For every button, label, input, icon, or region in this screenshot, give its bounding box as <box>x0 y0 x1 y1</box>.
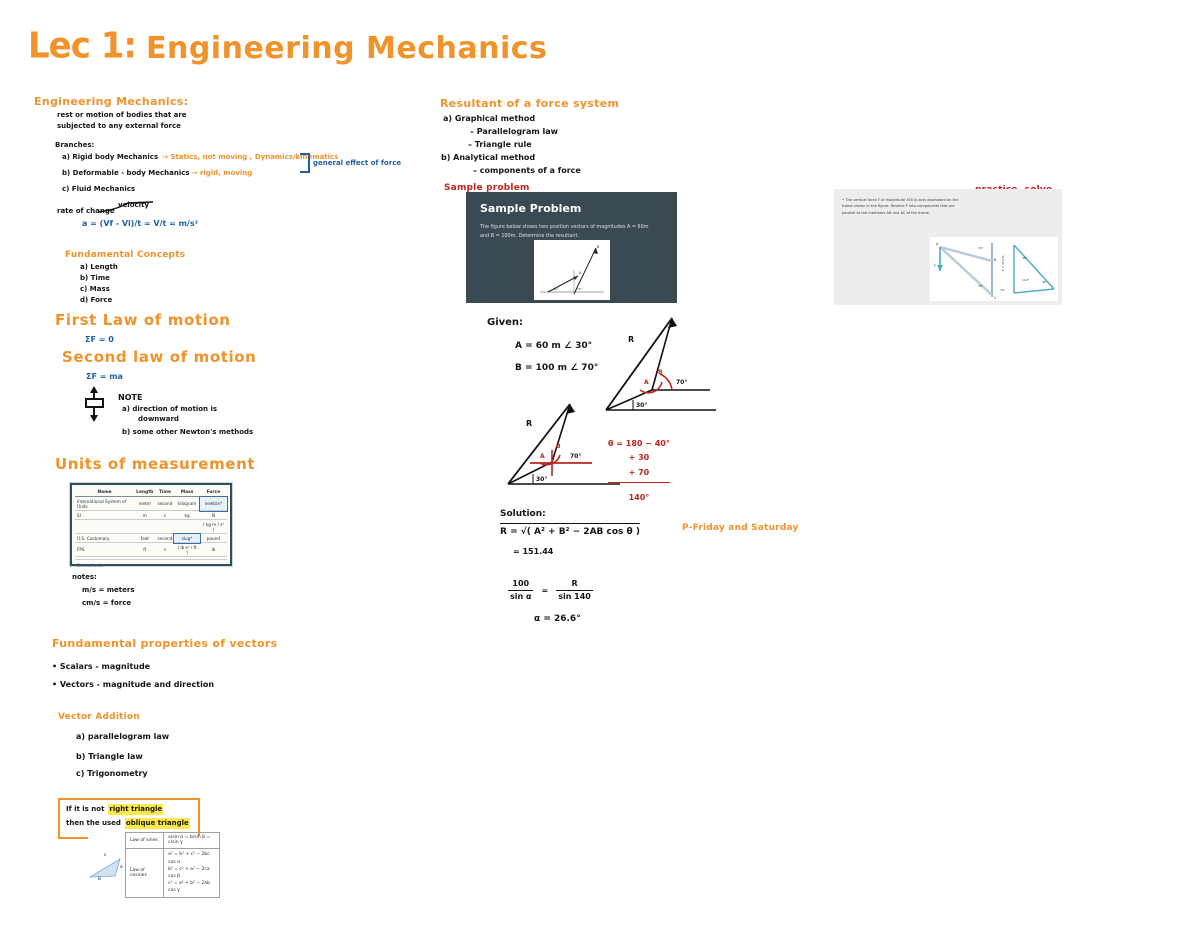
svg-text:b: b <box>98 876 101 881</box>
given-heading: Given: <box>487 315 523 331</box>
units-table-row: International System of Units meter seco… <box>75 497 227 511</box>
sine-law-left: 100 sin α <box>508 578 533 604</box>
units-col-name: Name <box>75 488 134 497</box>
eng-mech-definition-line1: rest or motion of bodies that are <box>57 110 187 121</box>
page-title: Lec 1: Engineering Mechanics <box>28 26 547 66</box>
vector-bullet-vector: • Vectors - magnitude and direction <box>52 679 214 691</box>
rate-of-change-pointer-icon <box>98 200 158 214</box>
vector-bullet-scalar: • Scalars - magnitude <box>52 661 150 673</box>
svg-text:B: B <box>994 258 997 262</box>
sample-problem-vectors-icon: A B 30° 70° <box>534 240 610 300</box>
svg-text:c: c <box>104 852 107 857</box>
fps-time-sym: s <box>155 543 174 557</box>
heading-vector-properties: Fundamental properties of vectors <box>52 637 277 650</box>
si-force-sub: ( kg·m / s² ) <box>200 520 227 534</box>
eng-mech-definition-line2: subjected to any external force <box>57 121 181 132</box>
fps-name: U.S. Customary <box>75 534 134 543</box>
label-angle-70-lower: 70° <box>570 453 581 460</box>
si-abbr: SI <box>75 511 134 520</box>
fundamental-concept-item: b) Time <box>80 273 118 284</box>
si-force-sym: N <box>200 511 227 520</box>
si-time-sym: s <box>155 511 174 520</box>
angle-calc-result: 140° <box>629 493 650 502</box>
angle-calc-line: + 70 <box>608 467 670 479</box>
heading-fundamental-concepts: Fundamental Concepts <box>65 250 185 260</box>
sample-problem-slide-title: Sample Problem <box>480 202 677 215</box>
label-resultant-upper: R <box>628 335 634 344</box>
svg-text:35°: 35° <box>978 284 984 288</box>
branch-item: b) Deformable - body Mechanics → rigid, … <box>62 168 338 179</box>
units-table-row: U.S. Customary foot second slug* pound <box>75 534 227 543</box>
first-law-equation: ΣF = 0 <box>85 334 114 346</box>
units-table-slide: Name Length Time Mass Force Internationa… <box>70 483 232 566</box>
svg-text:35°: 35° <box>1022 256 1028 260</box>
svg-text:70°: 70° <box>1000 288 1006 292</box>
law-of-cosines-formula: a² = b² + c² − 2bc cos α b² = c² + a² − … <box>164 848 220 897</box>
label-vector-b-upper: B <box>658 369 663 376</box>
label-resultant-lower: R <box>526 419 532 428</box>
branch-c-label: c) Fluid Mechanics <box>62 184 135 195</box>
branch-a-label: a) Rigid body Mechanics <box>62 152 158 163</box>
second-law-note-title: NOTE <box>118 392 142 404</box>
law-of-sines-formula: a/sin α = b/sin β = c/sin γ <box>164 832 220 848</box>
angle-calc-line: θ = 180 − 40° <box>608 438 670 450</box>
law-table-row: Law of sines a/sin α = b/sin β = c/sin γ <box>126 832 220 848</box>
solution-sine-law: 100 sin α = R sin 140 <box>508 578 593 604</box>
solution-heading: Solution: <box>500 508 546 522</box>
fps-mass: slug* <box>174 534 199 543</box>
blue-bracket-icon <box>300 153 310 173</box>
label-vector-a-upper: A <box>644 379 649 386</box>
sample-problem-figure: A B 30° 70° <box>534 240 610 300</box>
fps-length: foot <box>134 534 155 543</box>
branch-b-note: → rigid, moving <box>192 168 253 179</box>
triangle-note-line2: then the used oblique triangle <box>66 818 192 829</box>
units-col-length: Length <box>134 488 155 497</box>
heading-vector-addition: Vector Addition <box>58 712 140 722</box>
heading-resultant-force-system: Resultant of a force system <box>440 97 619 110</box>
heading-second-law: Second law of motion <box>62 348 256 366</box>
vector-triangle-lower-diagram: R B A 70° 30° <box>500 400 625 490</box>
practice-slide-figure: A B C F 70° 35° F = 350 lb 35° 110° 35° … <box>930 237 1058 301</box>
svg-text:35°: 35° <box>1042 280 1048 284</box>
svg-text:110°: 110° <box>1022 278 1030 282</box>
rate-of-change-formula: a = (Vf - Vi)/t = V/t = m/s² <box>82 218 198 230</box>
fundamental-concept-item: d) Force <box>80 295 118 306</box>
units-table-header-row: Name Length Time Mass Force <box>75 488 227 497</box>
heading-units-of-measurement: Units of measurement <box>55 455 255 473</box>
svg-text:B: B <box>597 245 600 249</box>
vector-addition-item: a) parallelogram law <box>76 731 169 743</box>
angle-calc-line: + 30 <box>608 452 670 464</box>
law-of-cosines-name: Law of cosines <box>126 848 164 897</box>
second-law-note-a-cont: downward <box>138 414 179 425</box>
si-length-sym: m <box>134 511 155 520</box>
si-time: second <box>155 497 174 511</box>
resultant-method-a-sub1: – Parallelogram law <box>470 126 558 138</box>
frame-truss-diagram-icon: A B C F 70° 35° F = 350 lb 35° 110° 35° … <box>930 237 1058 301</box>
law-table-slide: c a b Law of sines a/sin α = b/sin β = c… <box>88 836 220 894</box>
units-table: Name Length Time Mass Force Internationa… <box>75 488 227 557</box>
fps-abbr: FPS <box>75 543 134 557</box>
label-vector-b-lower: B <box>556 443 561 450</box>
spacer-cell <box>75 520 134 534</box>
svg-text:C: C <box>994 296 997 300</box>
si-length: meter <box>134 497 155 511</box>
heading-engineering-mechanics: Engineering Mechanics: <box>34 95 188 108</box>
branches-list: a) Rigid body Mechanics → Statics, not m… <box>62 152 338 195</box>
vector-addition-item: b) Triangle law <box>76 751 143 763</box>
fps-force-sym: lb <box>200 543 227 557</box>
fundamental-concept-item: a) Length <box>80 262 118 273</box>
svg-text:F: F <box>934 264 936 268</box>
fundamental-concepts-list: a) Length b) Time c) Mass d) Force <box>80 262 118 305</box>
sine-law-right: R sin 140 <box>556 578 593 604</box>
sample-problem-slide-body-line1: The figure below shows two position vect… <box>480 223 665 231</box>
general-effect-label: general effect of force <box>313 158 401 169</box>
fps-time: second <box>155 534 174 543</box>
branches-label: Branches: <box>55 140 94 151</box>
solution-cosine-result: = 151.44 <box>513 546 553 558</box>
given-vector-a: A = 60 m ∠ 30° <box>515 340 592 354</box>
sine-law-right-num: R <box>556 578 593 590</box>
fps-mass-sym: ( lb·s² / ft ) <box>174 543 199 557</box>
resultant-method-b: b) Analytical method <box>441 152 535 164</box>
si-mass-sym: kg <box>174 511 199 520</box>
practice-slide-text: • The vertical force F of magnitude 350 … <box>842 197 962 216</box>
units-table-row-symbols: FPS ft s ( lb·s² / ft ) lb <box>75 543 227 557</box>
triangle-note-line1-text: If it is not <box>66 804 104 815</box>
sine-law-left-den: sin α <box>508 590 533 603</box>
branch-b-label: b) Deformable - body Mechanics <box>62 168 190 179</box>
label-angle-30-lower: 30° <box>536 476 547 483</box>
units-table-row-force-sub: ( kg·m / s² ) <box>75 520 227 534</box>
solution-cosine-law: R = √( A² + B² − 2AB cos θ ) <box>500 523 640 540</box>
resultant-method-a: a) Graphical method <box>443 113 535 125</box>
si-force: newton* <box>200 497 227 511</box>
svg-text:A: A <box>936 242 939 246</box>
units-col-mass: Mass <box>174 488 199 497</box>
fundamental-concept-item: c) Mass <box>80 284 118 295</box>
vector-addition-item: c) Trigonometry <box>76 768 148 780</box>
heading-first-law: First Law of motion <box>55 311 231 329</box>
triangle-note-line1: If it is not right triangle <box>66 804 192 815</box>
units-note-item: cm/s = force <box>82 598 131 609</box>
svg-text:F = 350 lb: F = 350 lb <box>1001 255 1005 271</box>
spacer-cell <box>155 520 174 534</box>
svg-text:70°: 70° <box>577 287 583 291</box>
law-of-sines-name: Law of sines <box>126 832 164 848</box>
svg-text:a: a <box>120 864 123 869</box>
units-note-item: m/s = meters <box>82 585 135 596</box>
sine-law-equals: = <box>541 585 548 597</box>
units-table-row-symbols: SI m s kg N <box>75 511 227 520</box>
units-col-time: Time <box>155 488 174 497</box>
triangle-note-right-triangle: right triangle <box>108 804 163 815</box>
page-title-subject: Engineering Mechanics <box>146 31 547 66</box>
fps-length-sym: ft <box>134 543 155 557</box>
svg-text:A: A <box>579 271 582 275</box>
svg-text:30°: 30° <box>553 287 559 291</box>
resultant-method-b-sub1: – components of a force <box>473 165 581 177</box>
spacer-cell <box>134 520 155 534</box>
fps-force: pound <box>200 534 227 543</box>
side-note-annotation: P-Friday and Saturday <box>682 523 799 533</box>
units-col-force: Force <box>200 488 227 497</box>
angle-calculation: θ = 180 − 40° + 30 + 70 140° <box>608 438 670 505</box>
svg-text:70°: 70° <box>978 246 984 250</box>
practice-slide: • The vertical force F of magnitude 350 … <box>834 189 1062 305</box>
free-body-diagram-icon <box>80 382 114 426</box>
given-vector-b: B = 100 m ∠ 70° <box>515 362 598 376</box>
triangle-note-oblique-triangle: oblique triangle <box>125 818 190 829</box>
general-effect-annotation: general effect of force <box>300 153 401 173</box>
triangle-note-line2-text: then the used <box>66 818 121 829</box>
law-table-row: Law of cosines a² = b² + c² − 2bc cos α … <box>126 848 220 897</box>
resultant-method-a-sub2: – Triangle rule <box>468 139 532 151</box>
law-table: Law of sines a/sin α = b/sin β = c/sin γ… <box>125 832 220 898</box>
branch-item: c) Fluid Mechanics <box>62 184 338 195</box>
label-angle-70-upper: 70° <box>676 379 687 386</box>
units-notes-label: notes: <box>72 572 97 583</box>
si-name: International System of Units <box>75 497 134 511</box>
spacer-cell <box>174 520 199 534</box>
solution-alpha: α = 26.6° <box>534 613 581 627</box>
notes-page: Lec 1: Engineering Mechanics Engineering… <box>0 0 1200 927</box>
label-vector-a-lower: A <box>540 453 545 460</box>
second-law-note-b: b) some other Newton's methods <box>122 427 253 438</box>
sample-problem-slide: Sample Problem The figure below shows tw… <box>466 192 677 303</box>
page-title-lecture: Lec 1: <box>28 25 136 67</box>
branch-item: a) Rigid body Mechanics → Statics, not m… <box>62 152 338 163</box>
triangle-diagram-icon: c a b <box>88 850 122 880</box>
sine-law-left-num: 100 <box>508 578 533 590</box>
label-angle-30-upper: 30° <box>636 402 647 409</box>
units-table-footnote: *Derived unit. <box>75 559 227 568</box>
si-mass: kilogram <box>174 497 199 511</box>
sine-law-right-den: sin 140 <box>556 590 593 603</box>
